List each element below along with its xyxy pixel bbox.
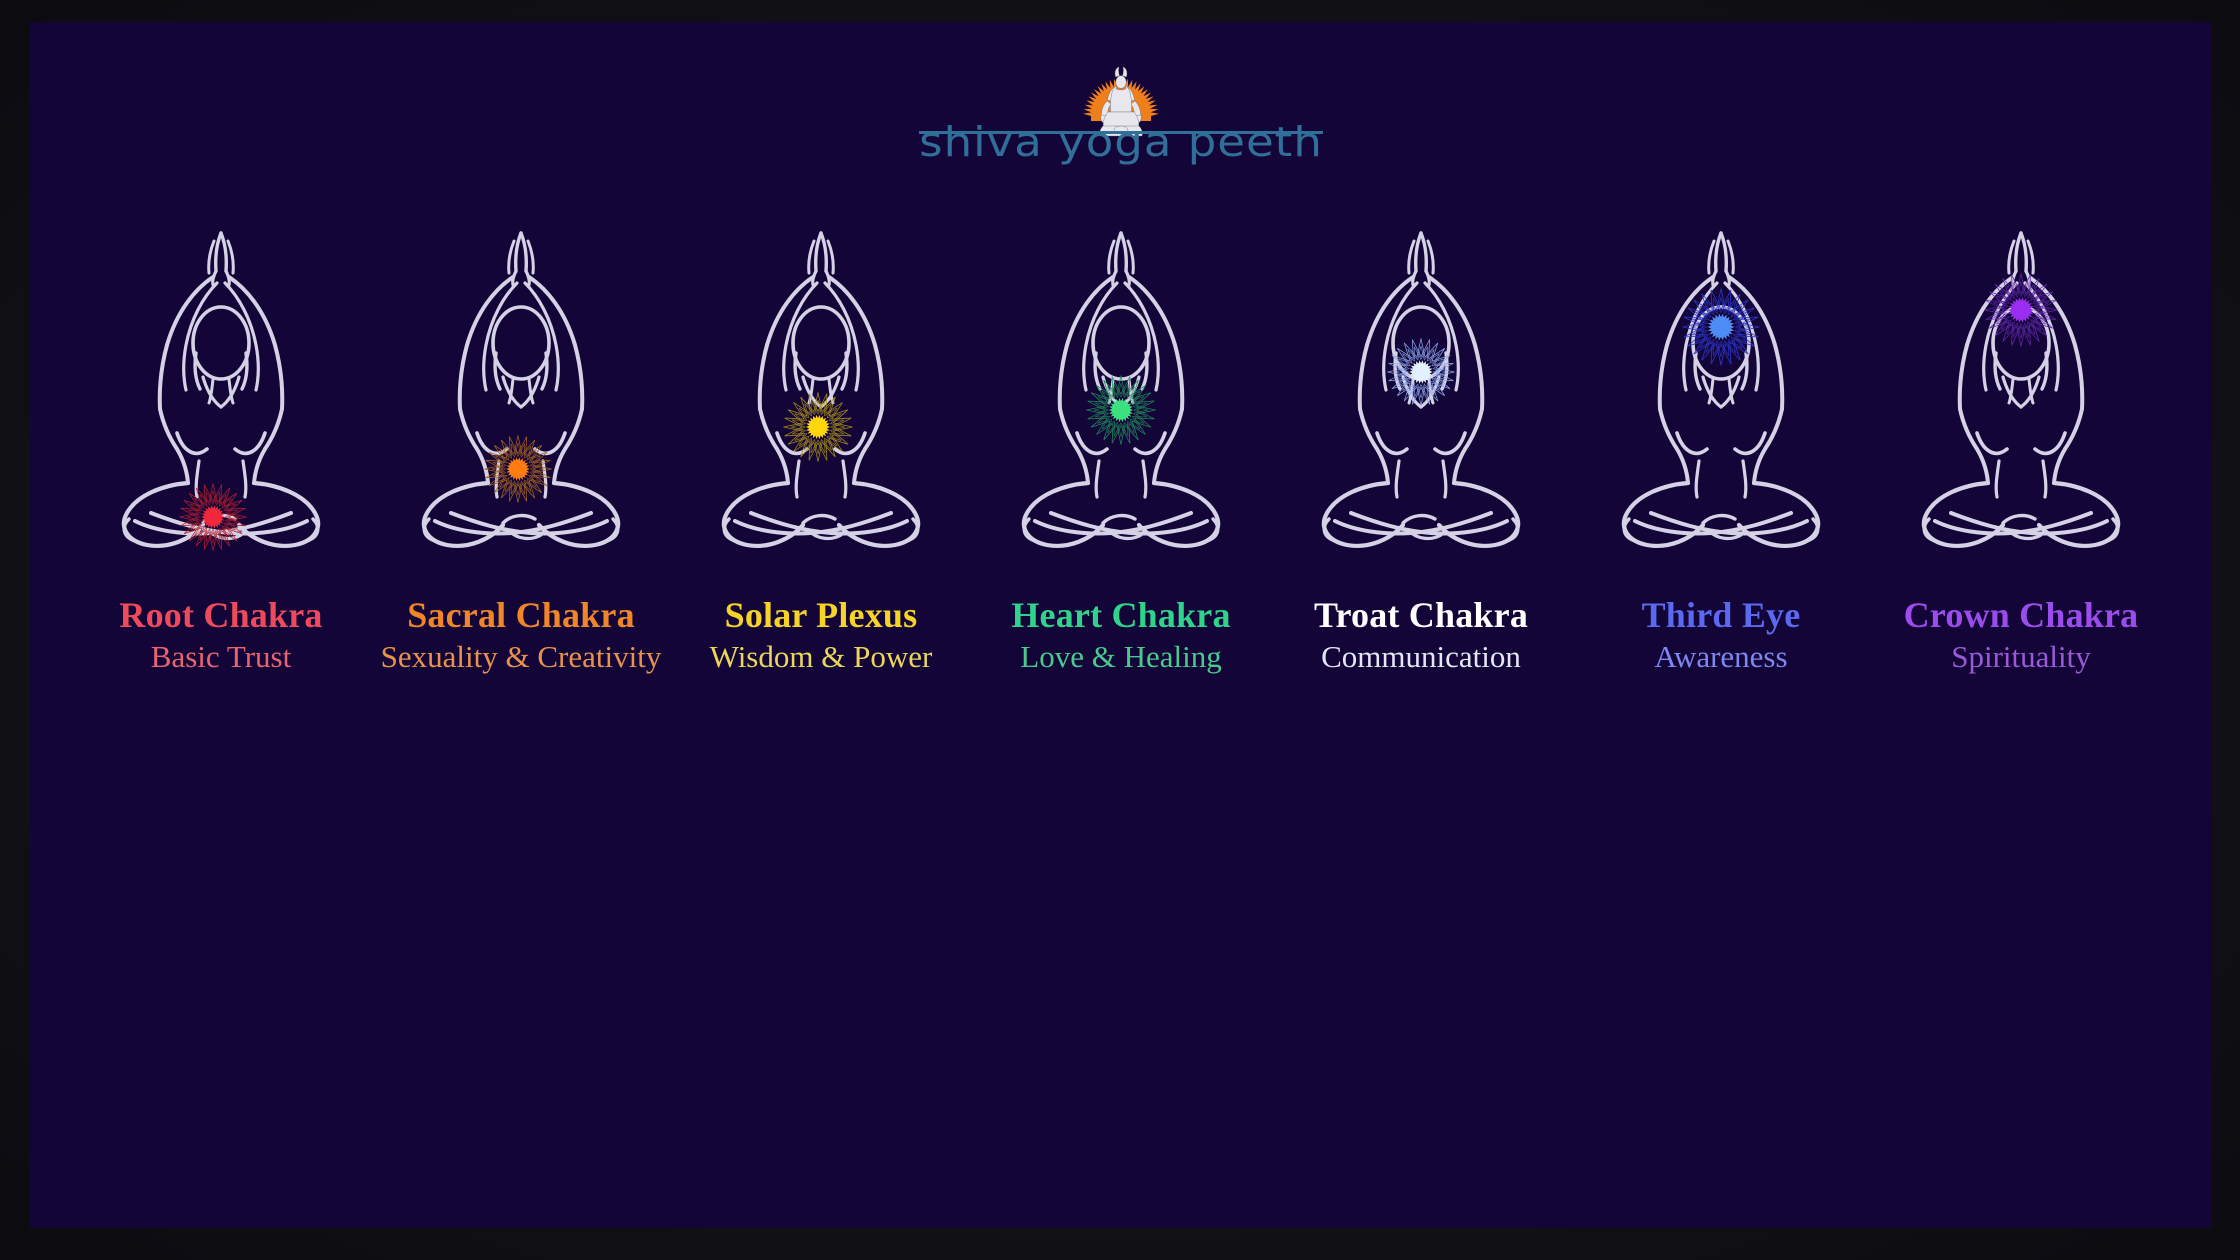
- meditating-figure: [1891, 227, 2151, 572]
- site-logo[interactable]: shiva yoga peeth: [30, 60, 2212, 190]
- chakra-labels: Heart ChakraLove & Healing: [976, 594, 1266, 676]
- chakra-column[interactable]: Heart ChakraLove & Healing: [971, 227, 1271, 676]
- meditating-figure: [691, 227, 951, 572]
- meditating-figure: [1591, 227, 1851, 572]
- crown-chakra-mandala-icon: [1983, 272, 2059, 348]
- chakra-column[interactable]: Solar PlexusWisdom & Power: [671, 227, 971, 676]
- chakra-title: Heart Chakra: [976, 594, 1266, 636]
- chakra-meaning: Spirituality: [1876, 638, 2166, 675]
- chakra-chart-panel: shiva yoga peeth: [30, 22, 2212, 1228]
- chakra-labels: Third EyeAwareness: [1576, 594, 1866, 676]
- chakra-title: Crown Chakra: [1876, 594, 2166, 636]
- meditating-figure: [91, 227, 351, 572]
- logo-wordmark-text: shiva yoga peeth: [919, 121, 1323, 162]
- chakra-labels: Sacral ChakraSexuality & Creativity: [376, 594, 666, 676]
- third-eye-chakra-mandala-icon: [1681, 287, 1761, 367]
- chakra-title: Sacral Chakra: [376, 594, 666, 636]
- chakra-labels: Solar PlexusWisdom & Power: [676, 594, 966, 676]
- chakra-title: Third Eye: [1576, 594, 1866, 636]
- chakra-column[interactable]: Troat ChakraCommunication: [1271, 227, 1571, 676]
- chakra-column[interactable]: Root ChakraBasic Trust: [71, 227, 371, 676]
- heart-chakra-mandala-icon: [1085, 374, 1157, 446]
- chakra-title: Solar Plexus: [676, 594, 966, 636]
- meditating-figure: [991, 227, 1251, 572]
- chakra-column[interactable]: Crown ChakraSpirituality: [1871, 227, 2171, 676]
- chakra-title: Troat Chakra: [1276, 594, 1566, 636]
- sacral-chakra-mandala-icon: [483, 434, 553, 504]
- chakra-meaning: Wisdom & Power: [676, 638, 966, 675]
- chakra-labels: Root ChakraBasic Trust: [76, 594, 366, 676]
- chakra-figure-row: Root ChakraBasic Trust: [30, 227, 2212, 676]
- chakra-meaning: Sexuality & Creativity: [376, 638, 666, 675]
- chakra-meaning: Communication: [1276, 638, 1566, 675]
- chakra-labels: Crown ChakraSpirituality: [1876, 594, 2166, 676]
- chakra-column[interactable]: Sacral ChakraSexuality & Creativity: [371, 227, 671, 676]
- chakra-title: Root Chakra: [76, 594, 366, 636]
- chakra-labels: Troat ChakraCommunication: [1276, 594, 1566, 676]
- chakra-meaning: Awareness: [1576, 638, 1866, 675]
- logo-wordmark: shiva yoga peeth: [919, 116, 1323, 164]
- chakra-column[interactable]: Third EyeAwareness: [1571, 227, 1871, 676]
- chakra-meaning: Love & Healing: [976, 638, 1266, 675]
- chakra-meaning: Basic Trust: [76, 638, 366, 675]
- solar-plexus-chakra-mandala-icon: [782, 391, 854, 463]
- throat-chakra-mandala-icon: [1386, 337, 1456, 407]
- screenshot-frame: shiva yoga peeth: [0, 0, 2240, 1260]
- meditating-figure: [391, 227, 651, 572]
- root-chakra-mandala-icon: [178, 482, 248, 552]
- meditating-figure: [1291, 227, 1551, 572]
